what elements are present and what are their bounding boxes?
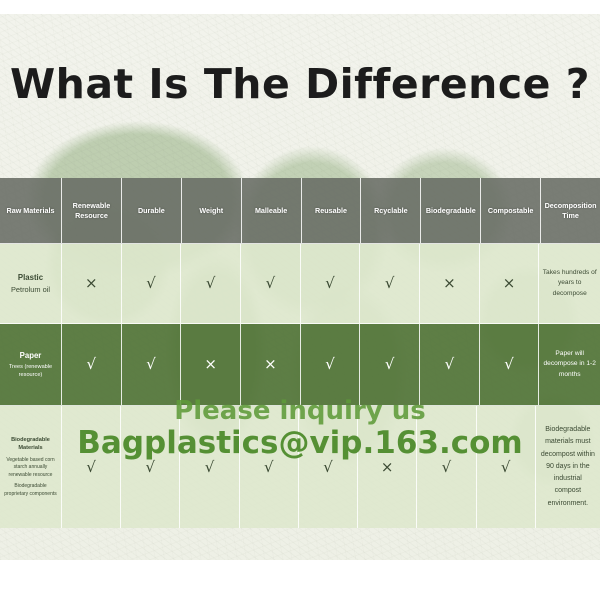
cell-reusable: √	[301, 244, 361, 323]
cell-compostable: √	[477, 406, 536, 528]
top-white-band	[0, 0, 600, 14]
cell-rcyclable: ×	[358, 406, 417, 528]
cell-malleable: √	[240, 406, 299, 528]
cell-rcyclable: √	[360, 244, 420, 323]
cell-malleable: ×	[241, 324, 301, 405]
material-subtitle: Petrolum oil	[11, 285, 50, 294]
table-row: Plastic Petrolum oil × √ √ √ √ √ × × Tak…	[0, 244, 600, 324]
cell-compostable: ×	[480, 244, 540, 323]
cell-malleable: √	[241, 244, 301, 323]
material-subtitle-2: Biodegradable proprietary components	[2, 483, 59, 498]
column-header-malleable: Malleable	[242, 178, 302, 243]
cell-biodegradable: √	[417, 406, 476, 528]
cell-biodegradable: ×	[420, 244, 480, 323]
column-header-decomposition-time: Decomposition Time	[541, 178, 600, 243]
table-row: Paper Trees (renewable resource) √ √ × ×…	[0, 324, 600, 406]
cell-renewable-resource: √	[62, 406, 121, 528]
cell-weight: √	[180, 406, 239, 528]
column-header-biodegradable: Biodegradable	[421, 178, 481, 243]
cell-durable: √	[122, 324, 182, 405]
table-header-row: Raw Materials Renewable Resource Durable…	[0, 178, 600, 244]
cell-reusable: √	[301, 324, 361, 405]
row-material-paper: Paper Trees (renewable resource)	[0, 324, 62, 405]
column-header-weight: Weight	[182, 178, 242, 243]
cell-decomposition-time: Paper will decompose in 1-2 months	[539, 324, 600, 405]
cell-reusable: √	[299, 406, 358, 528]
material-title: Paper	[2, 349, 59, 362]
column-header-reusable: Reusable	[302, 178, 362, 243]
comparison-table: Raw Materials Renewable Resource Durable…	[0, 178, 600, 528]
cell-compostable: √	[480, 324, 540, 405]
poster-canvas: What Is The Difference ? Raw Materials R…	[0, 0, 600, 600]
cell-renewable-resource: ×	[62, 244, 122, 323]
row-material-plastic: Plastic Petrolum oil	[0, 244, 62, 323]
cell-biodegradable: √	[420, 324, 480, 405]
cell-durable: √	[122, 244, 182, 323]
cell-decomposition-time: Takes hundreds of years to decompose	[539, 244, 600, 323]
column-header-rcyclable: Rcyclable	[361, 178, 421, 243]
cell-weight: √	[181, 244, 241, 323]
column-header-raw-materials: Raw Materials	[0, 178, 62, 243]
material-title: Plastic	[11, 271, 50, 284]
material-subtitle: Vegetable based corn starch annually ren…	[2, 457, 59, 480]
bottom-white-band	[0, 560, 600, 600]
column-header-durable: Durable	[122, 178, 182, 243]
material-title: Biodegradable Materials	[2, 436, 59, 453]
cell-rcyclable: √	[360, 324, 420, 405]
column-header-compostable: Compostable	[481, 178, 541, 243]
material-subtitle: Trees (renewable resource)	[2, 363, 59, 380]
cell-durable: √	[121, 406, 180, 528]
page-title: What Is The Difference ?	[0, 60, 600, 108]
cell-renewable-resource: √	[62, 324, 122, 405]
cell-decomposition-time: Biodegradable materials must decompost w…	[536, 406, 600, 528]
table-row: Biodegradable Materials Vegetable based …	[0, 406, 600, 528]
column-header-renewable-resource: Renewable Resource	[62, 178, 122, 243]
cell-weight: ×	[181, 324, 241, 405]
row-material-biodegradable: Biodegradable Materials Vegetable based …	[0, 406, 62, 528]
